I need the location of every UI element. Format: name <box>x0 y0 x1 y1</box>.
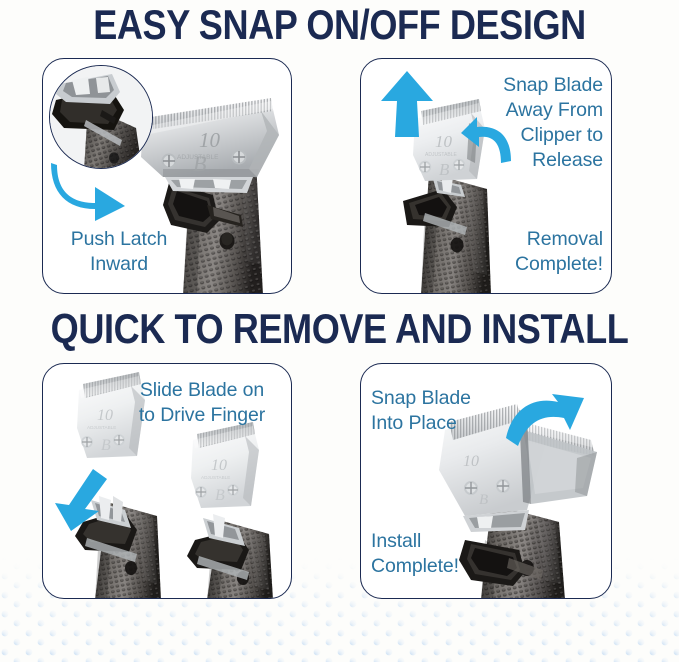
panel-2-status: Removal Complete! <box>461 227 603 277</box>
panel-4-caption: Snap Blade Into Place <box>371 386 511 436</box>
arrow-curved-right-icon <box>51 159 129 221</box>
page-title-secondary: QUICK TO REMOVE AND INSTALL <box>48 306 632 352</box>
panel-2-caption: Snap Blade Away From Clipper to Release <box>461 73 603 173</box>
step-panel-snap-into-place: 10 B Snap Blade Into Place Install Compl… <box>360 363 612 599</box>
arrow-curved-right-down-icon <box>506 394 584 448</box>
svg-text:10: 10 <box>463 453 479 470</box>
arrow-up-icon <box>381 71 433 137</box>
svg-text:10: 10 <box>211 457 227 474</box>
svg-text:B: B <box>439 160 450 179</box>
step-panel-snap-away: 10 ADJUSTABLE B Snap Blade Away From Cli… <box>360 58 612 294</box>
svg-text:B: B <box>479 492 488 508</box>
svg-text:B: B <box>101 437 111 454</box>
step-panel-slide-blade: 10 ADJUSTABLE B <box>42 363 292 599</box>
panel-1-caption: Push Latch Inward <box>49 227 189 277</box>
step-panel-push-latch: 10 ADJUSTABLE B <box>42 58 292 294</box>
svg-text:B: B <box>215 487 225 504</box>
arrow-down-left-icon <box>49 469 107 531</box>
panel-3-caption: Slide Blade on to Drive Finger <box>117 378 287 428</box>
svg-text:10: 10 <box>435 132 453 151</box>
panel-4-status: Install Complete! <box>371 529 511 579</box>
page-title-primary: EASY SNAP ON/OFF DESIGN <box>48 2 632 48</box>
svg-text:ADJUSTABLE: ADJUSTABLE <box>87 425 116 430</box>
svg-text:ADJUSTABLE: ADJUSTABLE <box>425 152 458 158</box>
svg-text:10: 10 <box>97 407 113 424</box>
svg-text:ADJUSTABLE: ADJUSTABLE <box>201 475 230 480</box>
blade-size-marking: 10 <box>199 128 221 152</box>
brand-logo-b: B <box>193 151 206 176</box>
blade-detail-inset-circle <box>49 65 153 169</box>
